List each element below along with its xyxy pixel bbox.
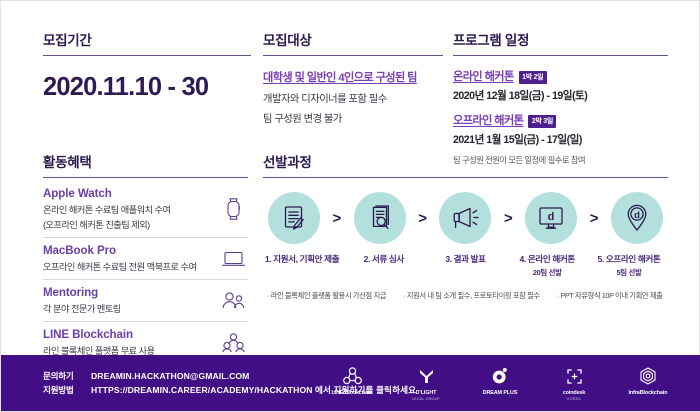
section-title-schedule: 프로그램 일정 (453, 29, 668, 49)
section-title-period: 모집기간 (43, 29, 251, 49)
process-label-3: 3. 결과 발표 (427, 253, 505, 278)
list-item: Apple Watch 온라인 해커톤 수료팀 애플워치 수여 (오프라인 해커… (43, 181, 248, 238)
divider-target (263, 55, 443, 56)
schedule-name-online: 온라인 해커톤 (453, 68, 514, 84)
schedule-badge-online: 1박 2일 (519, 71, 547, 84)
benefit-desc-macbook-pro: 오프라인 해커톤 수료팀 전원 맥북프로 수여 (43, 259, 218, 273)
process-track: > > (263, 192, 668, 244)
process-note-3: · PPT 자유형식 10P 이내 기획안 제출 (557, 291, 663, 301)
infrablockchain-logo (639, 365, 657, 387)
benefit-name-macbook-pro: MacBook Pro (43, 244, 218, 257)
process-step-1 (263, 192, 325, 244)
process-label-2: 2. 서류 심사 (345, 253, 423, 278)
section-title-process: 선발과정 (263, 151, 668, 171)
process-note-1: · 라인 블록체인 플랫폼 활용시 가산점 지급 (267, 291, 386, 301)
svg-text:d: d (548, 211, 555, 223)
partner-name: LINE Blockchain (331, 390, 372, 396)
section-benefits: 활동혜택 Apple Watch 온라인 해커톤 수료팀 애플워치 수여 (오프… (43, 151, 248, 363)
partner-sub: LEGAL GROUP (412, 397, 440, 401)
partner-dreamplus: DREAM PLUS (473, 365, 527, 396)
blockchain-group-icon (218, 329, 248, 357)
section-title-target: 모집대상 (263, 29, 443, 49)
process-note-2: · 지원서 내 팀 소개 필수, 프로토타이핑 포함 필수 (403, 291, 540, 301)
target-highlight: 대학생 및 일반인 4인으로 구성된 팀 (263, 69, 443, 85)
process-step-3 (434, 192, 496, 244)
process-label-text: 5. 오프라인 해커톤 (590, 253, 668, 265)
dreamplus-logo (491, 365, 509, 387)
partner-name: D'LIGHT (416, 390, 437, 396)
process-label-text: 4. 온라인 해커톤 (508, 253, 586, 265)
process-labels: 1. 지원서, 기획안 제출 2. 서류 심사 3. 결과 발표 4. 온라인 … (263, 253, 668, 278)
benefit-name-mentoring: Mentoring (43, 286, 218, 299)
divider-benefits (43, 177, 248, 178)
section-recruitment-period: 모집기간 2020.11.10 - 30 (43, 29, 251, 102)
target-line-2: 팀 구성원 변경 불가 (263, 110, 443, 125)
process-step-5: d (606, 192, 668, 244)
schedule-item-online-header: 온라인 해커톤 1박 2일 (453, 68, 668, 84)
document-pen-icon (268, 192, 320, 244)
process-label-text: 3. 결과 발표 (427, 253, 505, 265)
process-label-sub: 20팀 선발 (508, 267, 586, 278)
footer-email[interactable]: DREAMIN.HACKATHON@GMAIL.COM (91, 371, 249, 381)
process-label-5: 5. 오프라인 해커톤 5팀 선발 (590, 253, 668, 278)
partner-infrablockchain: InfraBlockchain (621, 365, 675, 396)
benefit-desc2-apple-watch: (오프라인 해커톤 진출팀 제외) (43, 217, 218, 231)
divider-process (263, 177, 668, 178)
process-separator: > (504, 211, 513, 226)
partner-name: coindesk (563, 390, 586, 396)
benefit-list: Apple Watch 온라인 해커톤 수료팀 애플워치 수여 (오프라인 해커… (43, 181, 248, 363)
megaphone-icon (439, 192, 491, 244)
section-program-schedule: 프로그램 일정 온라인 해커톤 1박 2일 2020년 12월 18일(금) -… (453, 29, 668, 166)
partner-sub: KOREA (567, 397, 581, 401)
schedule-badge-offline: 2박 3일 (528, 115, 556, 128)
watch-icon (218, 195, 248, 223)
partner-name: DREAM PLUS (483, 390, 518, 396)
divider-schedule (453, 55, 668, 56)
schedule-date-online: 2020년 12월 18일(금) - 19일(토) (453, 88, 668, 103)
process-notes: · 라인 블록체인 플랫폼 활용시 가산점 지급 · 지원서 내 팀 소개 필수… (263, 291, 668, 301)
process-label-text: 1. 지원서, 기획안 제출 (263, 253, 341, 265)
process-label-sub: 5팀 선발 (590, 267, 668, 278)
coindesk-logo (566, 365, 583, 387)
process-label-text: 2. 서류 심사 (345, 253, 423, 265)
laptop-icon (218, 245, 248, 273)
process-label-1: 1. 지원서, 기획안 제출 (263, 253, 341, 278)
section-selection-process: 선발과정 > (263, 151, 668, 301)
process-label-4: 4. 온라인 해커톤 20팀 선발 (508, 253, 586, 278)
partner-line-blockchain: LINE Blockchain (325, 365, 379, 396)
partner-dlight: D'LIGHT LEGAL GROUP (399, 365, 453, 401)
partner-name: InfraBlockchain (629, 390, 668, 396)
footer-partner-logos: LINE Blockchain D'LIGHT LEGAL GROUP (325, 365, 675, 401)
benefit-desc-mentoring: 각 분야 전문가 멘토링 (43, 301, 218, 315)
benefit-name-line-blockchain: LINE Blockchain (43, 328, 218, 341)
target-line-1: 개발자와 디자이너를 포함 필수 (263, 90, 443, 105)
line-blockchain-logo (343, 365, 362, 387)
schedule-name-offline: 오프라인 해커톤 (453, 112, 523, 128)
people-icon (218, 287, 248, 315)
process-step-4: d (520, 192, 582, 244)
process-separator: > (590, 211, 599, 226)
list-item: MacBook Pro 오프라인 해커톤 수료팀 전원 맥북프로 수여 (43, 238, 248, 280)
partner-coindesk: coindesk KOREA (547, 365, 601, 401)
footer: 문의하기 DREAMIN.HACKATHON@GMAIL.COM 지원방법 HT… (1, 355, 700, 411)
section-recruitment-target: 모집대상 대학생 및 일반인 4인으로 구성된 팀 개발자와 디자이너를 포함 … (263, 29, 443, 125)
dlight-logo (418, 365, 435, 387)
process-separator: > (332, 211, 341, 226)
map-pin-d-icon: d (611, 192, 663, 244)
section-title-benefits: 활동혜택 (43, 151, 248, 171)
process-separator: > (418, 211, 427, 226)
list-item: Mentoring 각 분야 전문가 멘토링 (43, 280, 248, 322)
footer-label-inquiry: 문의하기 (43, 370, 91, 382)
recruitment-date-range: 2020.11.10 - 30 (43, 73, 251, 102)
benefit-desc-apple-watch: 온라인 해커톤 수료팀 애플워치 수여 (43, 202, 218, 216)
hackathon-poster: 모집기간 2020.11.10 - 30 모집대상 대학생 및 일반인 4인으로… (0, 0, 700, 412)
footer-label-apply: 지원방법 (43, 384, 91, 396)
document-search-icon (354, 192, 406, 244)
schedule-date-offline: 2021년 1월 15일(금) - 17일(일) (453, 132, 668, 147)
process-step-2 (349, 192, 411, 244)
divider-period (43, 55, 251, 56)
svg-text:d: d (634, 210, 640, 221)
monitor-d-icon: d (525, 192, 577, 244)
benefit-name-apple-watch: Apple Watch (43, 187, 218, 200)
schedule-item-offline-header: 오프라인 해커톤 2박 3일 (453, 112, 668, 128)
